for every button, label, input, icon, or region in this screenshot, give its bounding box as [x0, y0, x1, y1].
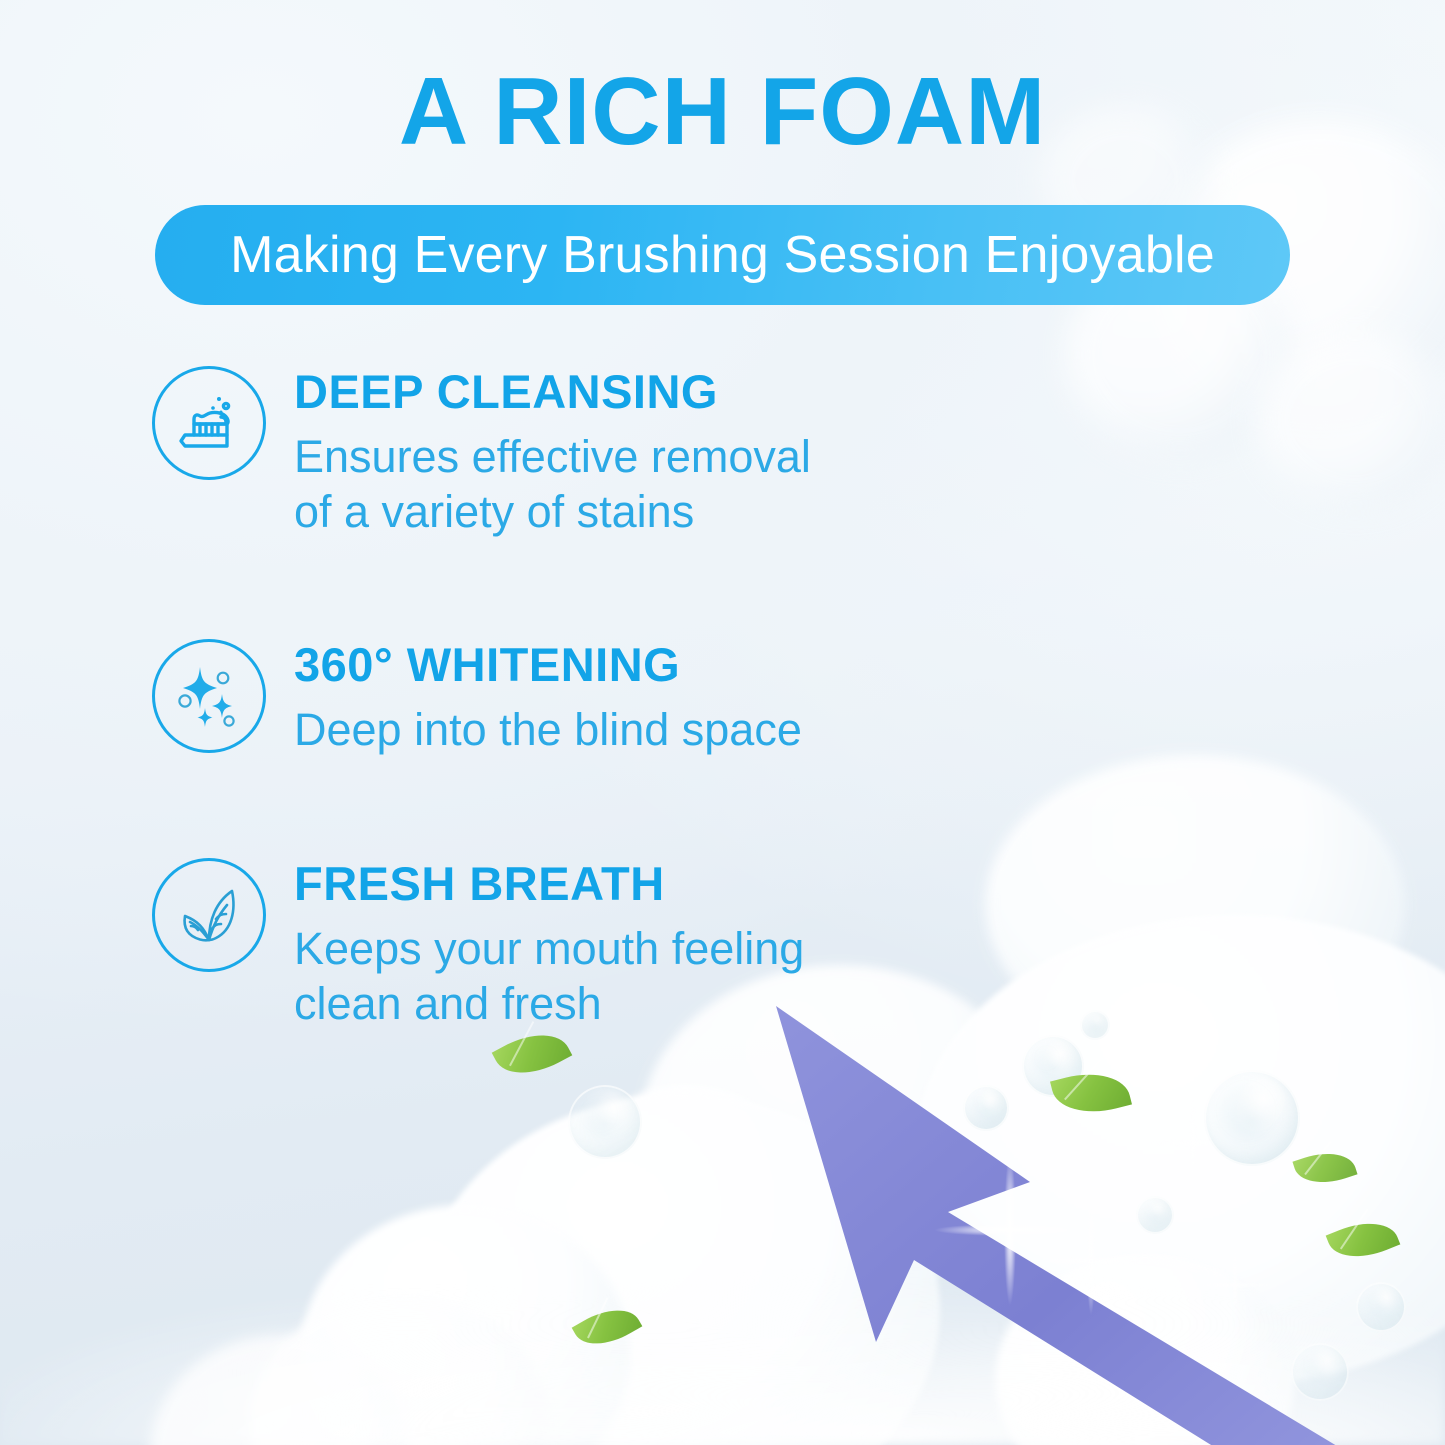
- mint-leaves-icon: [152, 858, 266, 972]
- feature-text: FRESH BREATH Keeps your mouth feeling cl…: [294, 854, 804, 1031]
- feature-body-line: clean and fresh: [294, 977, 804, 1032]
- feature-body: Deep into the blind space: [294, 703, 802, 758]
- feature-body-line: Keeps your mouth feeling: [294, 922, 804, 977]
- subtitle-banner: Making Every Brushing Session Enjoyable: [155, 205, 1290, 305]
- feature-text: 360° WHITENING Deep into the blind space: [294, 635, 802, 758]
- feature-item: DEEP CLEANSING Ensures effective removal…: [152, 362, 972, 539]
- feature-body: Keeps your mouth feeling clean and fresh: [294, 922, 804, 1032]
- subtitle-text: Making Every Brushing Session Enjoyable: [230, 225, 1215, 285]
- feature-item: FRESH BREATH Keeps your mouth feeling cl…: [152, 854, 972, 1031]
- feature-text: DEEP CLEANSING Ensures effective removal…: [294, 362, 811, 539]
- product-marketing-banner: A RICH FOAM Making Every Brushing Sessio…: [0, 0, 1445, 1445]
- feature-item: 360° WHITENING Deep into the blind space: [152, 635, 972, 758]
- feature-heading: 360° WHITENING: [294, 639, 802, 691]
- feature-heading: FRESH BREATH: [294, 858, 804, 910]
- feature-list: DEEP CLEANSING Ensures effective removal…: [152, 362, 972, 1032]
- feature-body-line: Deep into the blind space: [294, 703, 802, 758]
- sparkle-shine-icon: [152, 639, 266, 753]
- feature-body-line: of a variety of stains: [294, 485, 811, 540]
- toothbrush-foam-icon: [152, 366, 266, 480]
- feature-body: Ensures effective removal of a variety o…: [294, 430, 811, 540]
- page-title: A RICH FOAM: [0, 62, 1445, 163]
- feature-body-line: Ensures effective removal: [294, 430, 811, 485]
- feature-heading: DEEP CLEANSING: [294, 366, 811, 418]
